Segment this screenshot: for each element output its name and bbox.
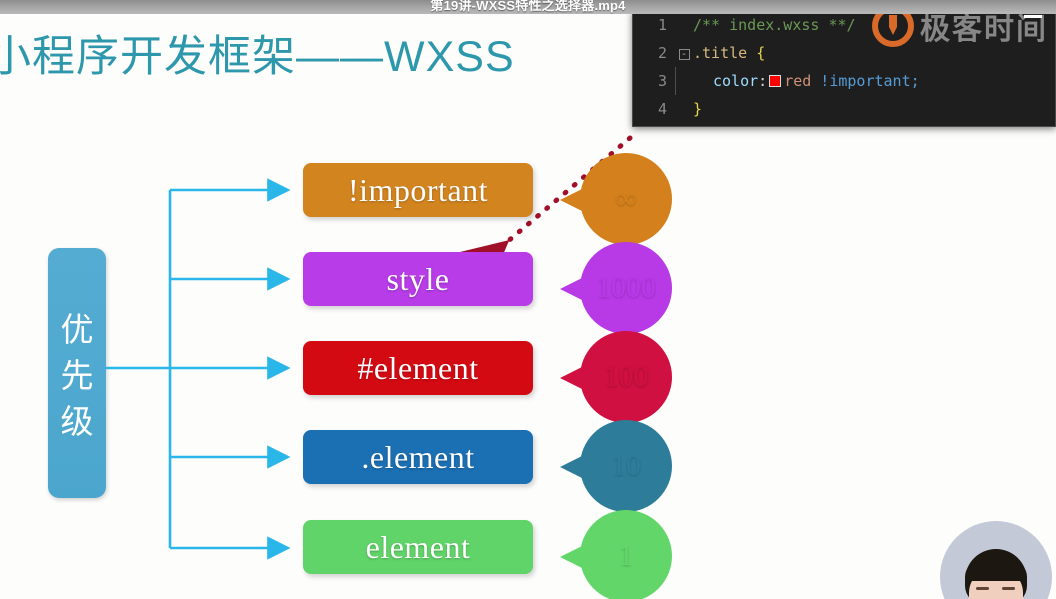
line-number: 4	[633, 100, 675, 118]
selector-box-class[interactable]: .element	[303, 430, 533, 484]
code-editor-panel[interactable]: 1 /** index.wxss **/ 2 - .title { 3 colo…	[632, 10, 1056, 127]
code-line: 1 /** index.wxss **/	[633, 11, 1055, 39]
specificity-value: 1	[619, 539, 634, 573]
priority-char-2: 先	[61, 359, 94, 392]
selector-label: #element	[357, 350, 478, 387]
specificity-bubble-style: 1000	[580, 242, 672, 334]
specificity-bubble-element: 1	[580, 510, 672, 599]
specificity-bubble-class: 10	[580, 420, 672, 512]
specificity-bubble-id: 100	[580, 331, 672, 423]
selector-box-id[interactable]: #element	[303, 341, 533, 395]
video-player-window: 小程序开发框架——WXSS 优 先 级	[0, 0, 1056, 599]
specificity-value: ∞	[615, 182, 636, 216]
line-number: 2	[633, 44, 675, 62]
code-token-property: color	[713, 72, 758, 90]
code-token-comment: /** index.wxss **/	[693, 16, 856, 34]
code-token-selector: .title	[693, 44, 756, 62]
code-token-colon: :	[758, 72, 767, 90]
code-line: 4 }	[633, 95, 1055, 123]
selector-box-important[interactable]: !important	[303, 163, 533, 217]
selector-label: style	[387, 261, 450, 298]
code-token-value: red	[784, 72, 811, 90]
specificity-bubble-important: ∞	[580, 153, 672, 245]
code-line: 2 - .title {	[633, 39, 1055, 67]
priority-char-1: 优	[61, 313, 94, 346]
selector-label: .element	[361, 439, 474, 476]
player-title: 第19讲-WXSS特性之选择器.mp4	[0, 0, 1056, 14]
priority-char-3: 级	[61, 405, 94, 438]
selector-label: !important	[348, 172, 488, 209]
priority-box: 优 先 级	[48, 248, 106, 498]
fold-minus-icon: -	[679, 49, 690, 60]
webcam-fringe	[965, 561, 1027, 581]
color-swatch-icon[interactable]	[769, 75, 781, 87]
specificity-value: 1000	[596, 271, 656, 305]
code-line: 3 color:red !important;	[633, 67, 1055, 95]
line-number: 3	[633, 72, 675, 90]
fold-toggle-icon[interactable]: -	[675, 47, 693, 60]
code-token-brace: }	[693, 100, 702, 118]
code-token-important: !important;	[811, 72, 919, 90]
selector-label: element	[366, 529, 471, 566]
code-token-brace: {	[756, 44, 765, 62]
minimize-button[interactable]	[1024, 15, 1042, 18]
specificity-value: 100	[604, 360, 649, 394]
webcam-eye-right	[1002, 587, 1015, 590]
indent-guide	[675, 67, 693, 95]
slide-title: 小程序开发框架——WXSS	[0, 22, 515, 84]
line-number: 1	[633, 16, 675, 34]
selector-box-style[interactable]: style	[303, 252, 533, 306]
webcam-eye-left	[976, 587, 989, 590]
selector-box-element[interactable]: element	[303, 520, 533, 574]
specificity-value: 10	[611, 449, 641, 483]
